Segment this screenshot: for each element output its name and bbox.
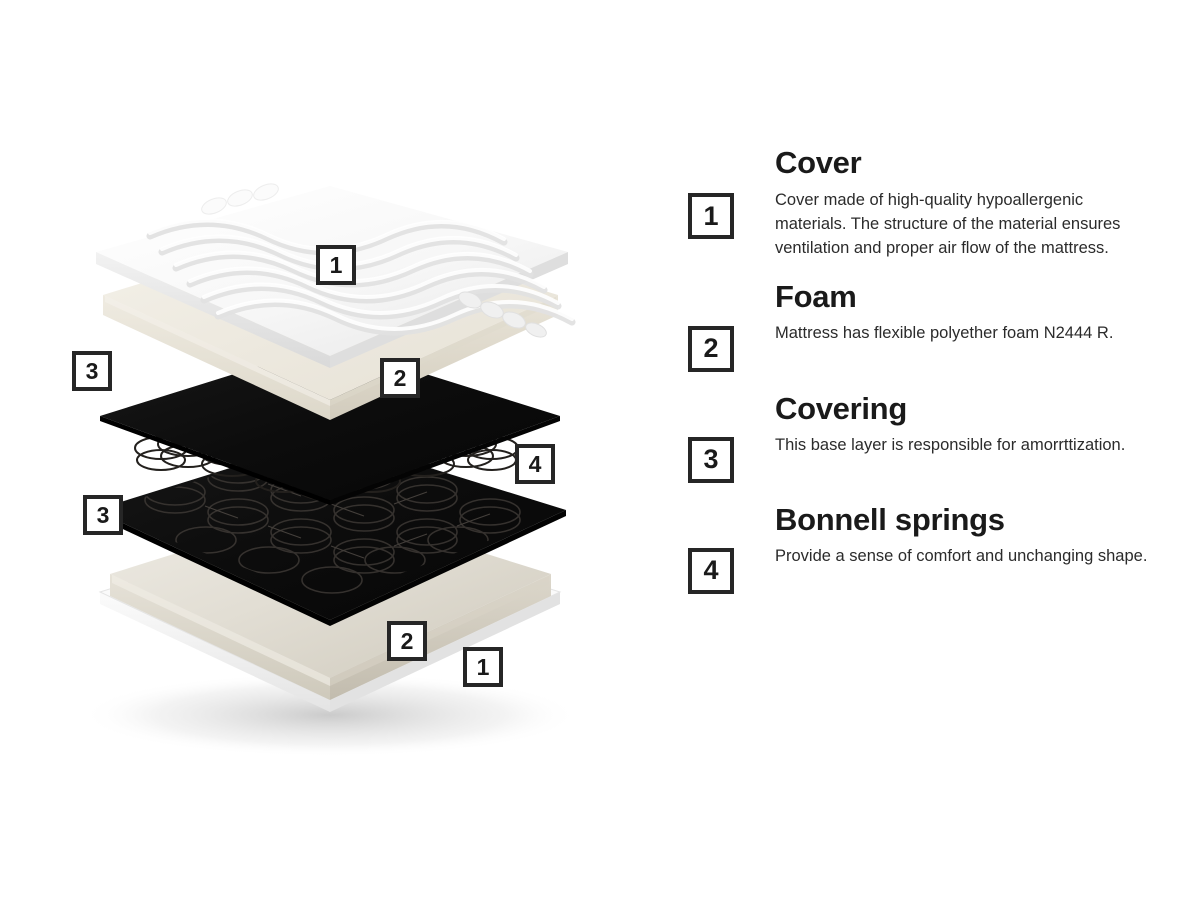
diagram-callout-2-foam[interactable]: 2 (380, 358, 420, 398)
legend-badge-column-2: 2 (688, 280, 775, 372)
diagram-callout-3-covering-bottom[interactable]: 3 (83, 495, 123, 535)
legend-badge-column-1: 1 (688, 146, 775, 239)
legend-desc-covering: This base layer is responsible for amorr… (775, 433, 1158, 457)
legend-badge-1: 1 (688, 193, 734, 239)
legend-badge-column-3: 3 (688, 392, 775, 483)
diagram-callout-1-cover[interactable]: 1 (316, 245, 356, 285)
legend-desc-foam: Mattress has flexible polyether foam N24… (775, 321, 1158, 345)
legend-text-3: Covering This base layer is responsible … (775, 392, 1158, 458)
diagram-callout-1-base-cover[interactable]: 1 (463, 647, 503, 687)
legend-title-foam: Foam (775, 280, 1158, 315)
legend-item-cover[interactable]: 1 Cover Cover made of high-quality hypoa… (688, 146, 1158, 260)
legend-text-2: Foam Mattress has flexible polyether foa… (775, 280, 1158, 346)
legend-item-bonnell-springs[interactable]: 4 Bonnell springs Provide a sense of com… (688, 503, 1158, 594)
diagram-callout-4-springs[interactable]: 4 (515, 444, 555, 484)
legend-badge-2: 2 (688, 326, 734, 372)
legend-text-4: Bonnell springs Provide a sense of comfo… (775, 503, 1158, 569)
legend-badge-4: 4 (688, 548, 734, 594)
legend-desc-cover: Cover made of high-quality hypoallergeni… (775, 188, 1158, 260)
legend-title-cover: Cover (775, 146, 1158, 181)
diagram-callout-2-base-foam[interactable]: 2 (387, 621, 427, 661)
legend-item-foam[interactable]: 2 Foam Mattress has flexible polyether f… (688, 280, 1158, 372)
diagram-callout-3-covering-top[interactable]: 3 (72, 351, 112, 391)
exploded-mattress-diagram: 1 2 3 4 3 2 1 (0, 0, 660, 899)
legend-item-covering[interactable]: 3 Covering This base layer is responsibl… (688, 392, 1158, 483)
legend-title-covering: Covering (775, 392, 1158, 427)
legend-text-1: Cover Cover made of high-quality hypoall… (775, 146, 1158, 260)
legend-title-bonnell-springs: Bonnell springs (775, 503, 1158, 538)
legend-badge-3: 3 (688, 437, 734, 483)
legend-list: 1 Cover Cover made of high-quality hypoa… (688, 146, 1158, 594)
mattress-layers-svg (0, 0, 660, 899)
legend-badge-column-4: 4 (688, 503, 775, 594)
legend-desc-bonnell-springs: Provide a sense of comfort and unchangin… (775, 544, 1158, 568)
